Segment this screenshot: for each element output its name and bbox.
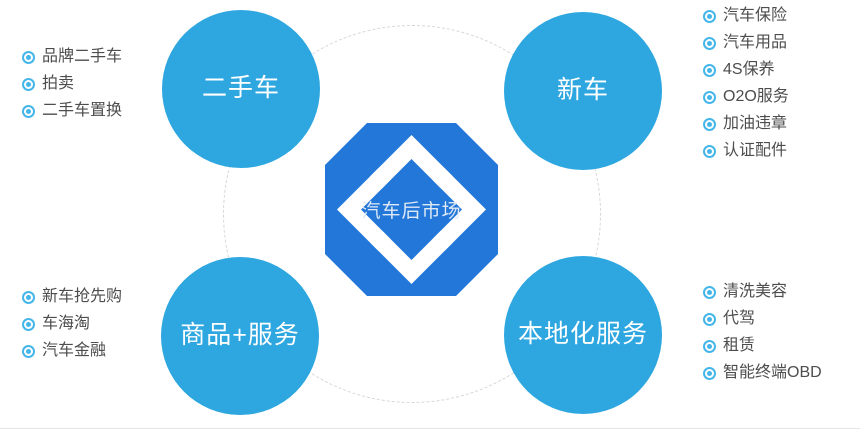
center-hub[interactable]: 汽车后市场 xyxy=(325,123,498,296)
list-item[interactable]: 车海淘 xyxy=(22,315,122,333)
bullet-radio-icon xyxy=(22,291,35,304)
bullet-radio-icon xyxy=(22,78,35,91)
list-item-label: 代驾 xyxy=(723,310,755,328)
list-bottom-right: 清洗美容 代驾 租赁 智能终端OBD xyxy=(703,283,822,382)
bullet-radio-icon xyxy=(703,367,716,380)
list-item[interactable]: 汽车保险 xyxy=(703,7,789,25)
bullet-radio-icon xyxy=(703,340,716,353)
node-new-car[interactable]: 新车 xyxy=(504,12,662,170)
list-item-label: 拍卖 xyxy=(42,75,74,93)
list-item-label: 认证配件 xyxy=(723,142,787,160)
bullet-radio-icon xyxy=(703,91,716,104)
list-item[interactable]: 汽车金融 xyxy=(22,342,122,360)
list-item[interactable]: 二手车置换 xyxy=(22,102,122,120)
list-item-label: 清洗美容 xyxy=(723,283,787,301)
diagram-canvas: 二手车 新车 商品+服务 本地化服务 xyxy=(0,0,860,437)
node-label: 商品+服务 xyxy=(180,322,300,350)
list-item[interactable]: 品牌二手车 xyxy=(22,48,122,66)
node-label: 新车 xyxy=(557,77,609,105)
list-item[interactable]: 新车抢先购 xyxy=(22,288,122,306)
list-item-label: 新车抢先购 xyxy=(42,288,122,306)
bullet-radio-icon xyxy=(22,345,35,358)
node-label: 二手车 xyxy=(202,75,280,103)
list-item[interactable]: 清洗美容 xyxy=(703,283,822,301)
center-label-wrap: 汽车后市场 xyxy=(325,123,498,296)
list-item-label: O2O服务 xyxy=(723,88,789,106)
bullet-radio-icon xyxy=(703,286,716,299)
list-item[interactable]: 拍卖 xyxy=(22,75,122,93)
list-item-label: 车海淘 xyxy=(42,315,90,333)
list-item-label: 二手车置换 xyxy=(42,102,122,120)
list-item-label: 租赁 xyxy=(723,337,755,355)
bullet-radio-icon xyxy=(703,10,716,23)
list-bottom-left: 新车抢先购 车海淘 汽车金融 xyxy=(22,288,122,360)
list-item[interactable]: 智能终端OBD xyxy=(703,364,822,382)
bullet-radio-icon xyxy=(703,145,716,158)
node-label: 本地化服务 xyxy=(518,321,648,349)
bullet-radio-icon xyxy=(703,118,716,131)
bottom-divider xyxy=(0,428,860,429)
list-top-right: 汽车保险 汽车用品 4S保养 O2O服务 加油违章 认证配件 xyxy=(703,7,789,160)
list-item-label: 汽车保险 xyxy=(723,7,787,25)
bullet-radio-icon xyxy=(703,313,716,326)
list-item[interactable]: 认证配件 xyxy=(703,142,789,160)
list-item-label: 汽车金融 xyxy=(42,342,106,360)
bullet-radio-icon xyxy=(703,37,716,50)
bullet-radio-icon xyxy=(703,64,716,77)
list-item-label: 4S保养 xyxy=(723,61,775,79)
list-item-label: 加油违章 xyxy=(723,115,787,133)
list-item[interactable]: 4S保养 xyxy=(703,61,789,79)
bullet-radio-icon xyxy=(22,51,35,64)
list-item[interactable]: 代驾 xyxy=(703,310,822,328)
node-used-car[interactable]: 二手车 xyxy=(162,10,320,168)
list-item[interactable]: 租赁 xyxy=(703,337,822,355)
list-item[interactable]: 汽车用品 xyxy=(703,34,789,52)
list-item[interactable]: 加油违章 xyxy=(703,115,789,133)
node-local-services[interactable]: 本地化服务 xyxy=(504,256,662,414)
list-item[interactable]: O2O服务 xyxy=(703,88,789,106)
list-item-label: 智能终端OBD xyxy=(723,364,822,382)
center-label: 汽车后市场 xyxy=(361,196,461,223)
bullet-radio-icon xyxy=(22,105,35,118)
list-item-label: 品牌二手车 xyxy=(42,48,122,66)
list-item-label: 汽车用品 xyxy=(723,34,787,52)
bullet-radio-icon xyxy=(22,318,35,331)
node-goods-services[interactable]: 商品+服务 xyxy=(161,257,319,415)
list-top-left: 品牌二手车 拍卖 二手车置换 xyxy=(22,48,122,120)
